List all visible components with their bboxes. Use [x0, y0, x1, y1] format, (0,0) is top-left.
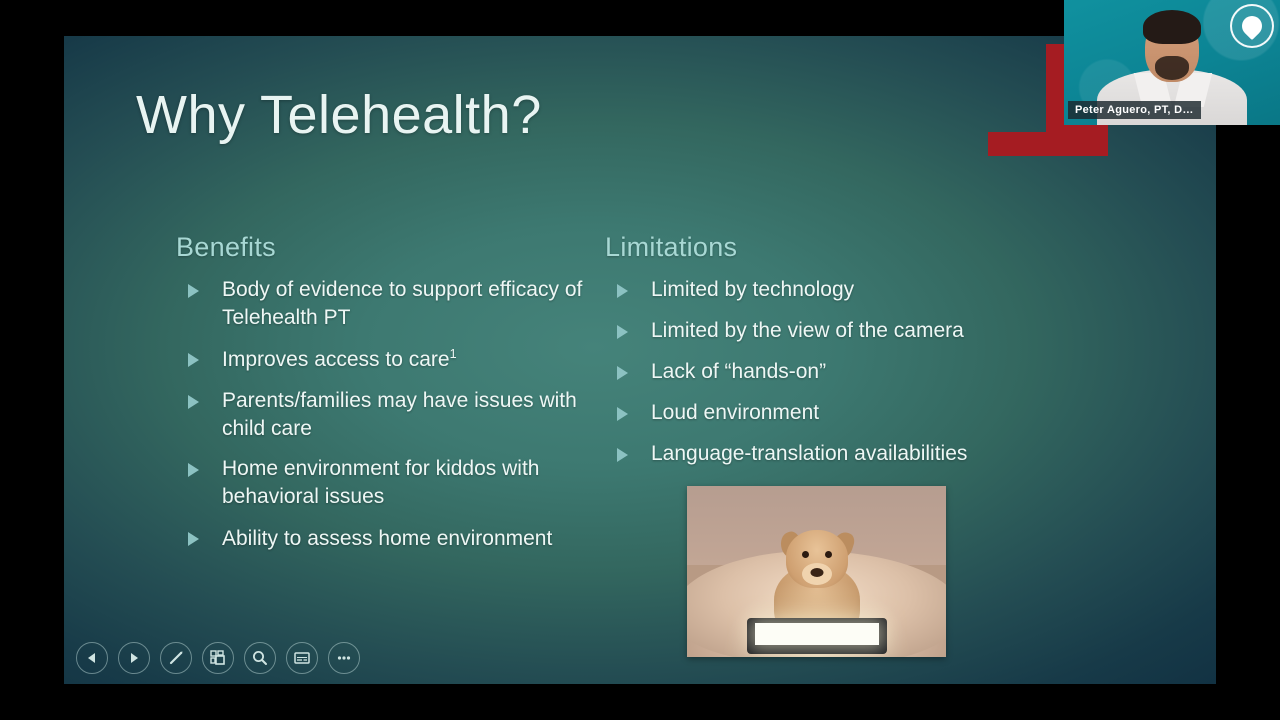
list-item: Ability to assess home environment — [176, 525, 588, 553]
bullet-text: Ability to assess home environment — [222, 527, 552, 550]
logo-drop-shape — [1238, 12, 1266, 40]
speaker-beard — [1155, 56, 1189, 80]
slide-canvas: Why Telehealth? Benefits Body of evidenc… — [64, 36, 1216, 684]
presenter-screen-icon — [293, 649, 311, 667]
conference-logo-icon — [1230, 4, 1274, 48]
bullet-triangle-icon — [617, 366, 628, 380]
bullet-triangle-icon — [188, 284, 199, 298]
list-item: Limited by the view of the camera — [605, 318, 1035, 345]
benefits-bullet-list: Body of evidence to support efficacy of … — [176, 277, 588, 553]
list-item: Language-translation availabilities — [605, 441, 1035, 468]
list-item: Parents/families may have issues with ch… — [176, 388, 588, 443]
limitations-bullet-list: Limited by technology Limited by the vie… — [605, 277, 1035, 467]
bullet-triangle-icon — [188, 353, 199, 367]
pen-icon — [167, 649, 185, 667]
tablet-device — [747, 618, 887, 654]
list-item: Home environment for kiddos with behavio… — [176, 456, 588, 511]
more-options-button[interactable] — [328, 642, 360, 674]
bullet-text: Language-translation availabilities — [651, 442, 967, 465]
list-item: Improves access to care1 — [176, 346, 588, 374]
bullet-text: Lack of “hands-on” — [651, 360, 826, 383]
ellipsis-icon — [335, 649, 353, 667]
puppy-nose — [810, 568, 823, 577]
bullet-text: Limited by the view of the camera — [651, 319, 964, 342]
list-item: Body of evidence to support efficacy of … — [176, 277, 588, 332]
pen-tool-button[interactable] — [160, 642, 192, 674]
speaker-hair — [1143, 10, 1201, 44]
benefits-heading: Benefits — [176, 232, 588, 263]
bullet-text: Improves access to care — [222, 348, 450, 371]
list-item: Lack of “hands-on” — [605, 359, 1035, 386]
limitations-column: Limitations Limited by technology Limite… — [605, 232, 1035, 481]
all-slides-button[interactable] — [202, 642, 234, 674]
slide-grid-icon — [209, 649, 227, 667]
presenter-view-button[interactable] — [286, 642, 318, 674]
magnifier-icon — [251, 649, 269, 667]
speaker-webcam-overlay[interactable]: Peter Aguero, PT, D… — [1064, 0, 1280, 125]
tablet-screen — [755, 623, 879, 645]
bullet-text: Limited by technology — [651, 278, 854, 301]
bullet-triangle-icon — [617, 325, 628, 339]
slide-title: Why Telehealth? — [136, 84, 542, 146]
bullet-text: Body of evidence to support efficacy of … — [222, 278, 582, 329]
speaker-name-label: Peter Aguero, PT, D… — [1068, 101, 1201, 119]
red-accent-block-foot — [988, 132, 1108, 156]
puppy-eye-right — [825, 551, 832, 558]
puppy-eye-left — [802, 551, 809, 558]
bullet-triangle-icon — [617, 284, 628, 298]
bullet-triangle-icon — [617, 448, 628, 462]
next-slide-button[interactable] — [118, 642, 150, 674]
bullet-triangle-icon — [617, 407, 628, 421]
list-item: Loud environment — [605, 400, 1035, 427]
bullet-text: Loud environment — [651, 401, 819, 424]
triangle-left-icon — [84, 650, 100, 666]
benefits-column: Benefits Body of evidence to support eff… — [176, 232, 588, 567]
limitations-heading: Limitations — [605, 232, 1035, 263]
list-item: Limited by technology — [605, 277, 1035, 304]
presentation-screen: Why Telehealth? Benefits Body of evidenc… — [0, 0, 1280, 720]
triangle-right-icon — [126, 650, 142, 666]
previous-slide-button[interactable] — [76, 642, 108, 674]
bullet-triangle-icon — [188, 395, 199, 409]
bullet-text: Parents/families may have issues with ch… — [222, 389, 577, 440]
bullet-text: Home environment for kiddos with behavio… — [222, 457, 539, 508]
bullet-triangle-icon — [188, 532, 199, 546]
bullet-superscript: 1 — [450, 347, 457, 361]
bullet-triangle-icon — [188, 463, 199, 477]
presentation-toolbar — [68, 638, 368, 678]
zoom-button[interactable] — [244, 642, 276, 674]
puppy-with-tablet-photo — [687, 486, 946, 657]
